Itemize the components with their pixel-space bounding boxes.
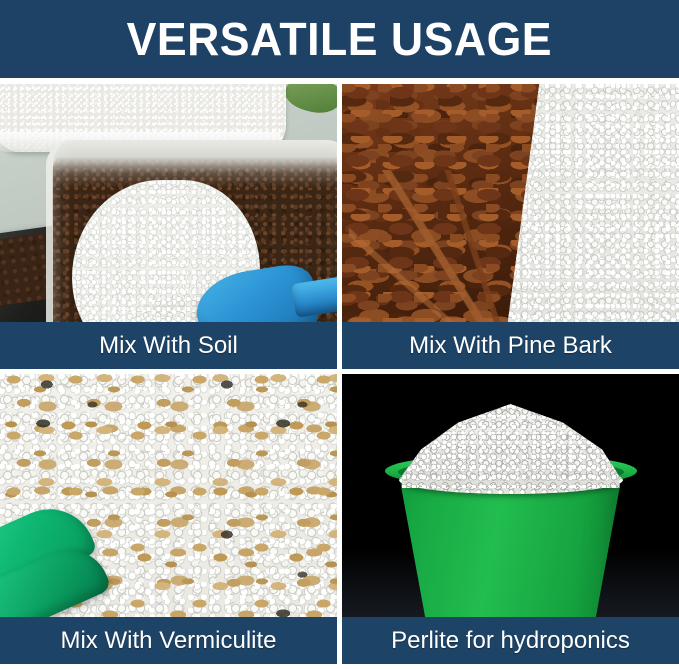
- caption-bar-mix-with-soil: Mix With Soil: [0, 322, 337, 369]
- caption-bar-perlite-for-hydroponics: Perlite for hydroponics: [342, 617, 679, 664]
- caption-label: Perlite for hydroponics: [391, 629, 630, 653]
- caption-bar-mix-with-vermiculite: Mix With Vermiculite: [0, 617, 337, 664]
- panel-mix-with-vermiculite: Mix With Vermiculite: [0, 374, 337, 664]
- panel-mix-with-soil: Mix With Soil: [0, 84, 337, 369]
- usage-panel-grid: Mix With Soil Mix With Pine Bark: [0, 84, 679, 669]
- caption-bar-mix-with-pine-bark: Mix With Pine Bark: [342, 322, 679, 369]
- panel-perlite-for-hydroponics: Perlite for hydroponics: [342, 374, 679, 664]
- versatile-usage-infographic: VERSATILE USAGE Mix With: [0, 0, 679, 669]
- leaf-decoration: [281, 84, 337, 120]
- caption-label: Mix With Soil: [99, 334, 238, 358]
- caption-label: Mix With Pine Bark: [409, 334, 612, 358]
- upper-perlite-tray: [0, 84, 286, 152]
- page-title: VERSATILE USAGE: [127, 16, 552, 62]
- panel-mix-with-pine-bark: Mix With Pine Bark: [342, 84, 679, 369]
- perlite-mound: [402, 404, 620, 488]
- caption-label: Mix With Vermiculite: [60, 629, 276, 653]
- upper-tray-rim: [0, 132, 280, 152]
- header-banner: VERSATILE USAGE: [0, 0, 679, 78]
